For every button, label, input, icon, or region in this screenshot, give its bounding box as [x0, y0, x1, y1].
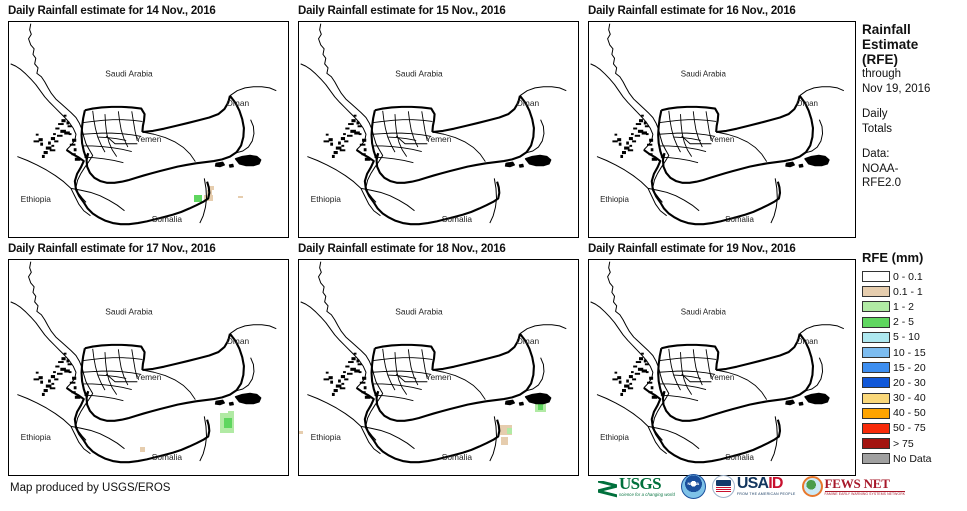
coastal-islet: [48, 380, 51, 383]
coastline-gulf-of-aden: [644, 150, 780, 224]
yemen-governorate-boundary-8: [98, 375, 126, 378]
country-label-somalia: Somalia: [152, 214, 183, 224]
coastal-islet: [361, 153, 365, 155]
coastal-islet: [50, 387, 56, 389]
coastal-islet: [341, 145, 344, 147]
coastal-islet: [68, 125, 72, 127]
rainfall-cell: [140, 447, 145, 452]
coastal-islet: [359, 133, 362, 135]
panel-title: Daily Rainfall estimate for 17 Nov., 201…: [6, 242, 216, 256]
legend-swatch: [862, 301, 890, 312]
legend-label: 15 - 20: [893, 362, 926, 374]
panel-16-nov: Daily Rainfall estimate for 16 Nov., 201…: [586, 4, 796, 18]
coastal-islet: [324, 140, 330, 142]
coastal-islet: [354, 353, 357, 355]
coastal-islet: [336, 385, 342, 388]
coastal-islet: [645, 125, 649, 127]
coastal-islet: [644, 359, 647, 362]
coastal-islet: [345, 366, 349, 368]
coastal-islet: [40, 143, 43, 146]
yemen-governorate-boundary-5: [82, 133, 141, 136]
country-label-saudi-arabia: Saudi Arabia: [395, 69, 443, 79]
map-17-nov[interactable]: Saudi ArabiaOmanYemenEthiopiaSomalia: [8, 259, 289, 476]
coastal-islet: [348, 361, 354, 363]
legend-item: 0.1 - 1: [862, 284, 967, 299]
coastal-islet: [51, 383, 54, 385]
agency-logos: USGS science for a changing world NOAA U…: [598, 474, 905, 499]
coastal-islet: [326, 372, 329, 374]
country-label-saudi-arabia: Saudi Arabia: [395, 307, 443, 317]
coastal-islet: [68, 363, 72, 365]
yemen-governorate-boundary-8: [98, 137, 126, 140]
legend-label: > 75: [893, 438, 914, 450]
usaid-wordmark: USAID: [737, 476, 796, 492]
coastal-islet: [64, 115, 67, 117]
legend-swatch: [862, 423, 890, 434]
rainfall-cells: [140, 411, 234, 452]
coastal-islet: [620, 155, 623, 158]
panel-title: Daily Rainfall estimate for 16 Nov., 201…: [586, 4, 796, 18]
rfe-legend: RFE (mm) 0 - 0.10.1 - 11 - 22 - 55 - 101…: [862, 250, 967, 466]
country-label-yemen: Yemen: [710, 135, 735, 144]
country-label-ethiopia: Ethiopia: [311, 194, 342, 204]
map-14-nov[interactable]: Saudi ArabiaOmanYemenEthiopiaSomalia: [8, 21, 289, 238]
map-canvas: Saudi ArabiaOmanYemenEthiopiaSomalia: [589, 22, 855, 237]
border-ethiopia-south: [648, 188, 667, 215]
island-small-1: [786, 162, 795, 166]
coastal-islet: [364, 148, 367, 151]
coastal-islet: [649, 391, 653, 393]
coastal-islet: [647, 144, 652, 146]
fews-wordmark: FEWS NET: [825, 477, 906, 490]
country-label-somalia: Somalia: [725, 215, 754, 224]
coastline-gulf-of-aden: [644, 388, 780, 462]
legend-label: 30 - 40: [893, 392, 926, 404]
country-label-ethiopia: Ethiopia: [600, 195, 629, 204]
coastal-islet: [70, 382, 76, 384]
fews-text: FEWS NET FAMINE EARLY WARNING SYSTEMS NE…: [825, 477, 906, 496]
legend-swatch: [862, 317, 890, 328]
border-ethiopia-south: [71, 426, 91, 453]
coastal-islet: [356, 121, 359, 124]
rainfall-cell: [228, 411, 234, 416]
yemen-governorate-boundary-8: [674, 375, 701, 378]
border-yemen-northeast: [432, 334, 520, 370]
coastline-somalia: [648, 188, 699, 210]
country-label-yemen: Yemen: [426, 134, 452, 144]
coastal-islet: [632, 378, 636, 380]
coastal-islet: [51, 137, 55, 140]
coastal-islet: [354, 115, 357, 117]
panel-title: Daily Rainfall estimate for 15 Nov., 201…: [296, 4, 506, 18]
coastal-islet: [69, 133, 72, 135]
coastal-islet: [341, 137, 345, 140]
coastline-red-sea-west: [11, 302, 76, 388]
coastline-somalia: [648, 426, 699, 448]
country-label-ethiopia: Ethiopia: [21, 194, 52, 204]
coastal-islet: [362, 377, 366, 380]
coastal-islet: [358, 363, 362, 365]
coastal-islet: [619, 143, 622, 146]
coastal-islet: [347, 373, 353, 375]
island-small-2: [799, 402, 803, 405]
legend-item: 50 - 75: [862, 421, 967, 436]
rainfall-cell: [299, 431, 303, 434]
coastal-islet: [332, 155, 335, 158]
country-label-oman: Oman: [516, 98, 539, 108]
rainfall-cell: [238, 196, 243, 198]
border-yemen-northeast: [716, 96, 800, 132]
coastal-islet: [347, 135, 353, 137]
coastal-islet: [54, 140, 58, 142]
side-title-line2: Estimate: [862, 37, 967, 52]
usaid-word-a: USA: [737, 475, 768, 492]
legend-swatch: [862, 408, 890, 419]
coastal-islet: [622, 151, 626, 154]
coastal-islet: [61, 357, 65, 360]
coastal-islet: [362, 139, 366, 142]
coastal-islet: [617, 138, 621, 141]
coastal-islet: [55, 128, 59, 130]
coastline-gulf-of-aden: [356, 388, 499, 462]
country-label-yemen: Yemen: [136, 372, 162, 382]
coastal-islet: [619, 381, 622, 384]
panel-18-nov: Daily Rainfall estimate for 18 Nov., 201…: [296, 242, 506, 256]
coastal-islet: [612, 378, 617, 380]
border-saudi-oman: [800, 87, 844, 96]
coastal-islet: [42, 155, 45, 158]
coastline-somalia: [71, 188, 125, 210]
legend-label: 1 - 2: [893, 301, 914, 313]
coastal-islet: [348, 123, 354, 125]
fews-net-logo: FEWS NET FAMINE EARLY WARNING SYSTEMS NE…: [802, 476, 906, 497]
coastal-islet: [651, 386, 654, 389]
legend-label: 20 - 30: [893, 377, 926, 389]
panel-title: Daily Rainfall estimate for 14 Nov., 201…: [6, 4, 216, 18]
usaid-tagline: FROM THE AMERICAN PEOPLE: [737, 493, 796, 497]
country-label-oman: Oman: [226, 98, 249, 108]
border-ethiopia-north: [597, 395, 648, 427]
border-ethiopia-north: [17, 395, 71, 427]
coastal-islet: [635, 373, 640, 375]
legend-swatch: [862, 271, 890, 282]
coastal-islet: [61, 119, 65, 122]
legend-item: > 75: [862, 436, 967, 451]
country-label-somalia: Somalia: [152, 452, 183, 462]
legend-label: 0 - 0.1: [893, 271, 923, 283]
border-ethiopia-north: [17, 157, 71, 189]
usaid-seal-icon: [712, 475, 735, 498]
coastal-islet: [34, 140, 40, 142]
panel-title: Daily Rainfall estimate for 18 Nov., 201…: [296, 242, 506, 256]
legend-label: 50 - 75: [893, 422, 926, 434]
coastal-islet: [58, 361, 64, 363]
border-ethiopia-north: [307, 395, 361, 427]
coastal-islet: [340, 387, 346, 389]
coastal-islet: [351, 119, 355, 122]
yemen-governorate-boundary-5: [372, 371, 431, 374]
coastal-islet: [636, 123, 641, 125]
coastal-islet: [34, 378, 40, 380]
yemen-governorate-boundary-2: [408, 349, 417, 385]
usgs-logo: USGS science for a changing world: [598, 475, 675, 497]
rainfall-cell: [194, 195, 202, 202]
coastal-islets: [612, 353, 657, 399]
yemen-governorate-boundary-2: [118, 349, 127, 385]
coastal-islets: [34, 115, 81, 161]
border-saudi-oman: [800, 325, 844, 334]
coastal-islet: [329, 376, 333, 379]
coastal-islet: [338, 380, 341, 383]
map-15-nov[interactable]: Saudi ArabiaOmanYemenEthiopiaSomalia: [298, 21, 579, 238]
coastal-islet: [652, 158, 657, 161]
coastline-gulf-of-aden: [66, 388, 209, 462]
coastline-somalia: [361, 426, 415, 448]
side-title-line1: Rainfall: [862, 22, 967, 37]
yemen-governorate-boundary-2: [693, 349, 702, 385]
legend-item: 2 - 5: [862, 315, 967, 330]
coastal-islet: [624, 147, 629, 150]
coastal-islet: [332, 393, 335, 396]
border-ethiopia-north: [307, 157, 361, 189]
legend-swatch: [862, 362, 890, 373]
coastal-islet: [58, 123, 64, 125]
panel-15-nov: Daily Rainfall estimate for 15 Nov., 201…: [296, 4, 506, 18]
country-label-oman: Oman: [796, 337, 818, 346]
coastline-somalia: [71, 426, 125, 448]
coastline-gulf-of-aden: [356, 150, 499, 224]
coastal-islet: [343, 371, 346, 373]
legend-item: 10 - 15: [862, 345, 967, 360]
usgs-text: USGS science for a changing world: [619, 475, 675, 497]
coastal-islet: [617, 376, 621, 379]
border-yemen-northeast: [142, 96, 230, 132]
side-data-label: Data:: [862, 147, 967, 162]
country-label-saudi-arabia: Saudi Arabia: [105, 69, 153, 79]
usgs-tagline: science for a changing world: [619, 493, 675, 497]
island-small-1: [505, 162, 514, 166]
legend-label: 40 - 50: [893, 407, 926, 419]
island-small-2: [229, 402, 233, 405]
coastal-islet: [360, 382, 366, 384]
map-18-nov[interactable]: Saudi ArabiaOmanYemenEthiopiaSomalia: [298, 259, 579, 476]
legend-label: 2 - 5: [893, 316, 914, 328]
spacer: [862, 96, 967, 107]
map-canvas: Saudi ArabiaOmanYemenEthiopiaSomalia: [9, 260, 288, 475]
coastline-somalia: [361, 188, 415, 210]
border-saudi-oman: [230, 87, 276, 96]
rainfall-cell: [501, 437, 508, 445]
island-socotra: [526, 155, 551, 165]
usaid-logo: USAID FROM THE AMERICAN PEOPLE: [712, 475, 796, 498]
coastal-islet: [639, 119, 643, 122]
coastal-islet: [51, 145, 54, 147]
coastal-islet: [329, 138, 333, 141]
coastal-islet: [330, 381, 333, 384]
border-yemen-northeast: [432, 96, 520, 132]
coastal-islet: [361, 391, 365, 393]
coastal-islet: [633, 366, 637, 368]
legend-item: 5 - 10: [862, 330, 967, 345]
panel-14-nov: Daily Rainfall estimate for 14 Nov., 201…: [6, 4, 216, 18]
map-canvas: Saudi ArabiaOmanYemenEthiopiaSomalia: [299, 260, 578, 475]
coastal-islet: [358, 125, 362, 127]
coastal-islet: [629, 383, 632, 385]
country-label-ethiopia: Ethiopia: [600, 433, 629, 442]
coastal-islet: [54, 378, 58, 380]
coastal-islet: [55, 366, 59, 368]
side-data-source-2: RFE2.0: [862, 176, 967, 191]
coastal-islet: [344, 140, 348, 142]
country-label-oman: Oman: [226, 336, 249, 346]
coastal-islet: [620, 393, 623, 396]
coastline-red-sea-west: [591, 64, 653, 150]
coastal-islet: [66, 359, 69, 362]
yemen-governorate-boundary-2: [693, 111, 702, 147]
border-ethiopia-north: [597, 157, 648, 189]
coastal-islet: [624, 385, 629, 388]
legend-item: 15 - 20: [862, 360, 967, 375]
border-yemen-northeast: [716, 334, 800, 370]
legend-swatch: [862, 438, 890, 449]
panel-title: Daily Rainfall estimate for 19 Nov., 201…: [586, 242, 796, 256]
coastal-islet: [360, 144, 366, 146]
coastal-islet: [75, 158, 81, 161]
island-socotra: [805, 155, 829, 165]
yemen-governorate-boundary-5: [82, 371, 141, 374]
legend-label: 0.1 - 1: [893, 286, 923, 298]
coastal-islets: [34, 353, 81, 399]
coastal-islet: [40, 381, 43, 384]
noaa-logo-icon: NOAA: [681, 474, 706, 499]
legend-title: RFE (mm): [862, 250, 967, 265]
island-small-2: [519, 164, 523, 167]
coastal-islet: [326, 134, 329, 136]
coastal-islet: [72, 139, 76, 142]
coastal-islet: [365, 158, 371, 161]
globe-icon: [802, 476, 823, 497]
island-small-2: [519, 402, 523, 405]
country-label-ethiopia: Ethiopia: [311, 432, 342, 442]
coastal-islet: [626, 380, 629, 383]
usgs-wordmark: USGS: [619, 475, 675, 492]
island-socotra: [236, 155, 261, 165]
coastal-islet: [629, 137, 633, 140]
island-socotra: [236, 393, 261, 403]
legend-item: 40 - 50: [862, 406, 967, 421]
coastal-islet: [57, 373, 63, 375]
yemen-governorate-boundary-8: [388, 375, 416, 378]
country-label-oman: Oman: [796, 99, 818, 108]
coastal-islet: [646, 371, 649, 373]
spacer: [862, 136, 967, 147]
country-label-saudi-arabia: Saudi Arabia: [105, 307, 153, 317]
fews-tagline: FAMINE EARLY WARNING SYSTEMS NETWORK: [825, 491, 906, 496]
coastline-red-sea-west: [301, 302, 366, 388]
coastal-islet: [70, 144, 76, 146]
coastal-islet: [365, 396, 371, 399]
coastal-islet: [641, 115, 644, 117]
coastal-islet: [74, 148, 77, 151]
country-label-saudi-arabia: Saudi Arabia: [681, 70, 727, 79]
side-date: Nov 19, 2016: [862, 82, 967, 97]
side-daily: Daily: [862, 107, 967, 122]
coastal-islet: [44, 151, 48, 154]
legend-swatch: [862, 453, 890, 464]
coastal-islet: [39, 376, 43, 379]
coastal-islet: [69, 371, 72, 373]
island-socotra: [526, 393, 551, 403]
coastal-islet: [341, 383, 344, 385]
coastal-islet: [629, 145, 632, 147]
coastal-islet: [53, 133, 56, 135]
legend-rows: 0 - 0.10.1 - 11 - 22 - 55 - 1010 - 1515 …: [862, 269, 967, 466]
coastal-islet: [50, 149, 56, 151]
coastal-islet: [72, 377, 76, 380]
coastal-islets: [612, 115, 657, 161]
yemen-governorate-boundary-5: [659, 371, 715, 374]
coastal-islet: [74, 386, 77, 389]
border-saudi-oman: [230, 325, 276, 334]
map-19-nov[interactable]: Saudi ArabiaOmanYemenEthiopiaSomalia: [588, 259, 856, 476]
coastal-islet: [351, 357, 355, 360]
coastal-islet: [36, 134, 39, 136]
map-canvas: Saudi ArabiaOmanYemenEthiopiaSomalia: [9, 22, 288, 237]
coastal-islet: [639, 357, 643, 360]
border-ethiopia-south: [361, 188, 381, 215]
coastal-islet: [71, 391, 75, 393]
coastal-islet: [330, 143, 333, 146]
panel-17-nov: Daily Rainfall estimate for 17 Nov., 201…: [6, 242, 216, 256]
coastal-islet: [42, 393, 45, 396]
coastline-red-sea-west: [301, 64, 366, 150]
coastal-islet: [344, 378, 348, 380]
legend-swatch: [862, 377, 890, 388]
coastal-islet: [612, 140, 617, 142]
rainfall-cells: [194, 186, 243, 202]
coastal-islet: [44, 389, 48, 392]
coastal-islet: [622, 389, 626, 392]
legend-item: 0 - 0.1: [862, 269, 967, 284]
island-small-1: [215, 400, 224, 404]
coastal-islet: [629, 375, 633, 378]
legend-label: 5 - 10: [893, 331, 920, 343]
coastline-red-sea-west: [591, 302, 653, 388]
coastal-islet: [75, 396, 81, 399]
coastal-islet: [341, 375, 345, 378]
coastal-islet: [343, 133, 346, 135]
coastal-islet: [48, 142, 51, 145]
coastal-islet: [636, 361, 641, 363]
usaid-word-b: ID: [768, 475, 782, 492]
yemen-governorate-boundary-2: [408, 111, 417, 147]
side-info: Rainfall Estimate (RFE) through Nov 19, …: [862, 22, 967, 191]
border-ethiopia-south: [361, 426, 381, 453]
coastal-islet: [647, 382, 652, 384]
coastal-islet: [635, 135, 640, 137]
coastal-islet: [356, 359, 359, 362]
island-small-2: [799, 164, 803, 167]
legend-item: 30 - 40: [862, 391, 967, 406]
coastal-islet: [71, 153, 75, 155]
country-label-somalia: Somalia: [725, 453, 754, 462]
map-credit: Map produced by USGS/EROS: [10, 482, 170, 494]
coastal-islet: [651, 148, 654, 151]
country-label-oman: Oman: [516, 336, 539, 346]
coastal-islet: [644, 121, 647, 124]
map-16-nov[interactable]: Saudi ArabiaOmanYemenEthiopiaSomalia: [588, 21, 856, 238]
country-label-ethiopia: Ethiopia: [21, 432, 52, 442]
